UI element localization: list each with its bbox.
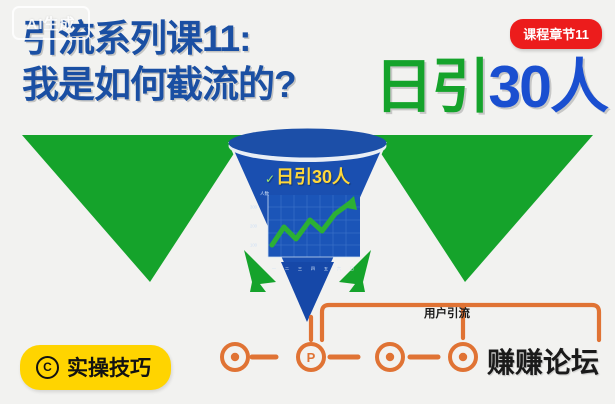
chart-y-axis-title: 人数 <box>260 191 269 197</box>
headline-highlight-green: 日引 <box>374 54 488 120</box>
chart-xtick-2: 三 <box>298 266 302 272</box>
chart-ytick-2: 100 <box>250 243 258 248</box>
chapter-badge[interactable]: 课程章节11 <box>510 19 602 49</box>
tips-badge[interactable]: C 实操技巧 <box>20 345 171 390</box>
flow-label: 用户引流 <box>424 305 470 321</box>
tips-badge-label: 实操技巧 <box>67 352 151 382</box>
chart-xtick-6: 日 <box>350 266 354 272</box>
chart-ytick-1: 200 <box>250 224 258 229</box>
chart-ytick-0: 300 <box>250 205 258 210</box>
poster-canvas: ✓日引30人 人数 300 200 100 <box>0 0 615 404</box>
chart-xtick-0: 一 <box>272 266 276 272</box>
ai-watermark: AI生成 <box>12 6 90 40</box>
chart-xtick-5: 六 <box>337 266 341 272</box>
headline-highlight-blue: 30人 <box>488 54 607 120</box>
svg-text:P: P <box>307 350 316 365</box>
funnel-label-tick-icon: ✓ <box>265 172 275 186</box>
headline-line-2: 我是如何截流的? <box>22 66 296 103</box>
chart-xtick-3: 四 <box>311 266 315 272</box>
copyright-icon: C <box>36 356 59 379</box>
funnel-label-text: 日引30人 <box>276 167 350 187</box>
chart-xtick-1: 二 <box>285 266 289 272</box>
chart-plot-area <box>258 193 362 265</box>
chart-xtick-4: 五 <box>324 266 328 272</box>
forum-name: 赚赚论坛 <box>487 341 599 381</box>
funnel-label: ✓日引30人 <box>0 163 615 189</box>
mini-line-chart: 人数 300 200 100 一 二 三 四 <box>258 193 362 265</box>
headline-highlight: 日引30人 <box>374 58 607 117</box>
